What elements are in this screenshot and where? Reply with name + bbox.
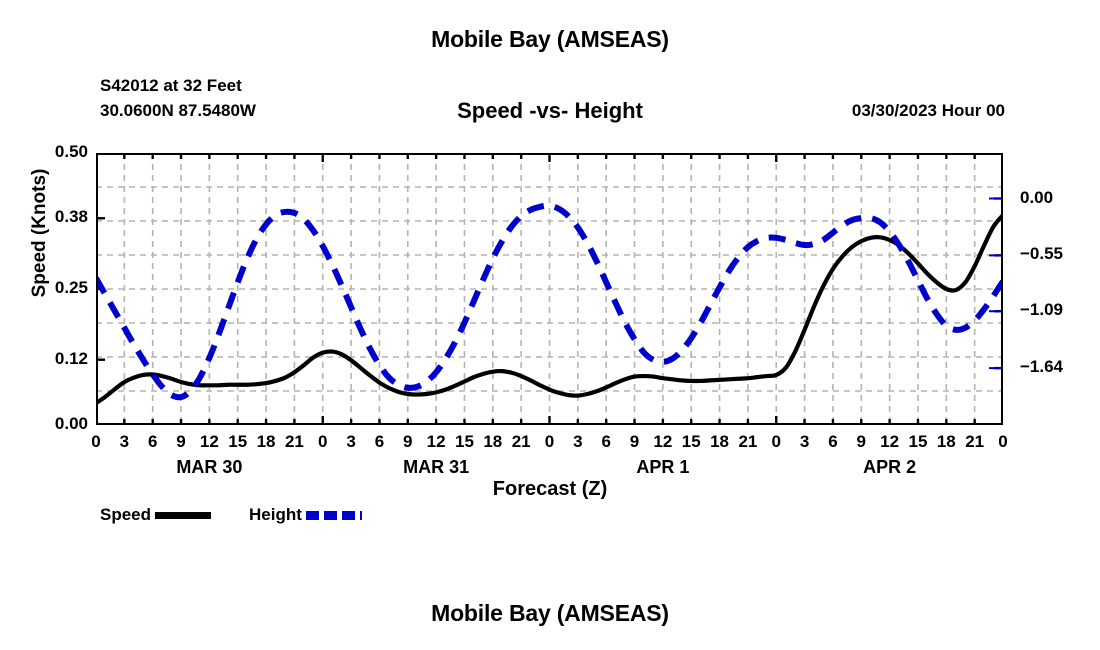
x-tick-label: 18 — [705, 432, 735, 452]
legend-swatch-speed-line — [155, 512, 211, 519]
legend-swatch-height-line — [306, 511, 362, 520]
x-tick-label: 21 — [960, 432, 990, 452]
x-tick-label: 18 — [251, 432, 281, 452]
x-tick-label: 9 — [166, 432, 196, 452]
station-name: S42012 at 32 Feet — [100, 76, 242, 96]
x-tick-label: 18 — [931, 432, 961, 452]
legend-label-speed: Speed — [100, 505, 151, 525]
x-axis-day-label: MAR 30 — [139, 457, 279, 478]
y-tick-label-left: 0.38 — [55, 207, 88, 227]
x-tick-label: 18 — [478, 432, 508, 452]
x-tick-label: 0 — [81, 432, 111, 452]
x-tick-label: 6 — [364, 432, 394, 452]
x-tick-label: 21 — [506, 432, 536, 452]
page-title-bottom: Mobile Bay (AMSEAS) — [0, 600, 1100, 627]
legend-item-speed: Speed — [100, 505, 211, 525]
legend-item-height: Height — [249, 505, 362, 525]
x-axis-title: Forecast (Z) — [0, 478, 1100, 501]
x-tick-label: 12 — [421, 432, 451, 452]
x-axis-day-label: MAR 31 — [366, 457, 506, 478]
x-tick-label: 15 — [903, 432, 933, 452]
page-title-top: Mobile Bay (AMSEAS) — [0, 26, 1100, 53]
legend-label-height: Height — [249, 505, 302, 525]
x-tick-label: 3 — [336, 432, 366, 452]
x-tick-label: 21 — [733, 432, 763, 452]
chart-canvas — [96, 153, 1003, 425]
chart-plot-area — [96, 153, 1003, 425]
x-tick-label: 15 — [223, 432, 253, 452]
y-tick-label-right: −0.55 — [1020, 244, 1063, 264]
x-tick-label: 6 — [138, 432, 168, 452]
x-tick-label: 12 — [648, 432, 678, 452]
x-tick-label: 0 — [761, 432, 791, 452]
x-tick-label: 3 — [563, 432, 593, 452]
x-tick-label: 6 — [818, 432, 848, 452]
x-tick-label: 3 — [109, 432, 139, 452]
x-axis-day-label: APR 2 — [820, 457, 960, 478]
y-tick-label-left: 0.50 — [55, 142, 88, 162]
chart-legend: Speed Height — [100, 505, 362, 525]
y-tick-label-right: 0.00 — [1020, 188, 1053, 208]
x-tick-label: 6 — [591, 432, 621, 452]
x-tick-label: 0 — [535, 432, 565, 452]
y-axis-left-title: Speed (Knots) — [29, 133, 51, 333]
x-tick-label: 0 — [988, 432, 1018, 452]
x-tick-label: 12 — [194, 432, 224, 452]
x-tick-label: 21 — [279, 432, 309, 452]
model-run-timestamp: 03/30/2023 Hour 00 — [852, 101, 1005, 121]
x-tick-label: 9 — [846, 432, 876, 452]
x-tick-label: 3 — [790, 432, 820, 452]
x-axis-day-label: APR 1 — [593, 457, 733, 478]
y-tick-label-right: −1.09 — [1020, 300, 1063, 320]
x-tick-label: 15 — [449, 432, 479, 452]
x-tick-label: 15 — [676, 432, 706, 452]
x-tick-label: 0 — [308, 432, 338, 452]
y-tick-label-left: 0.12 — [55, 349, 88, 369]
x-tick-label: 9 — [393, 432, 423, 452]
x-tick-label: 12 — [875, 432, 905, 452]
y-tick-label-right: −1.64 — [1020, 357, 1063, 377]
y-tick-label-left: 0.25 — [55, 278, 88, 298]
y-tick-label-left: 0.00 — [55, 414, 88, 434]
x-tick-label: 9 — [620, 432, 650, 452]
